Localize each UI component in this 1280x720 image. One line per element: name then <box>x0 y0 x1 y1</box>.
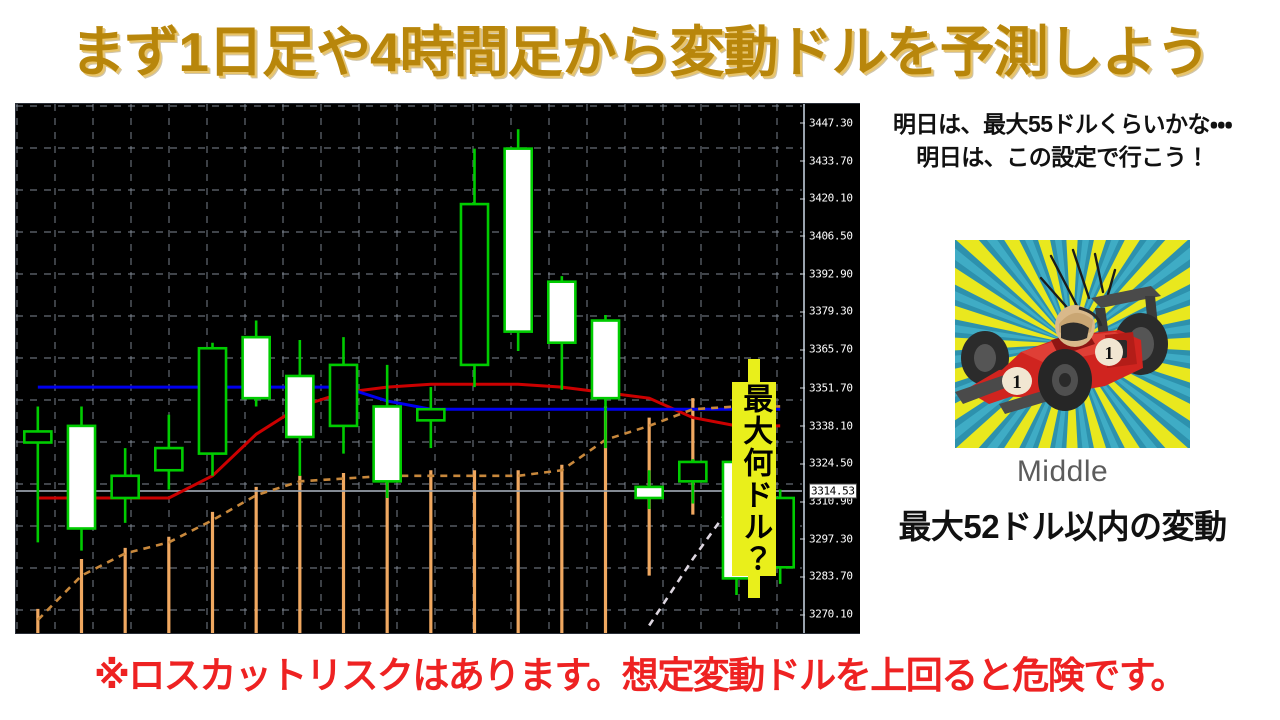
price-tick: 3420.10 <box>809 192 853 205</box>
price-tick: 3338.10 <box>809 419 853 432</box>
max-move-label: 最大52ドル以内の変動 <box>845 500 1280 548</box>
price-axis: 3447.303433.703420.103406.503392.903379.… <box>803 104 860 633</box>
price-tick: 3365.70 <box>809 343 853 356</box>
note-line-2: 明日は、この設定で行こう！ <box>845 141 1280 174</box>
callout-label: 最大何ドル？ <box>739 383 770 575</box>
price-tick: 3283.70 <box>809 570 853 583</box>
callout-body: 最大何ドル？ <box>732 382 776 576</box>
footer-warning: ※ロスカットリスクはあります。想定変動ドルを上回ると危険です。 <box>0 645 1280 699</box>
price-tick: 3379.30 <box>809 305 853 318</box>
prediction-note: 明日は、最大55ドルくらいかな・・・ 明日は、この設定で行こう！ <box>845 108 1280 175</box>
price-tick: 3270.10 <box>809 608 853 621</box>
price-tick: 3351.70 <box>809 381 853 394</box>
svg-text:1: 1 <box>1105 343 1114 363</box>
chart-plot-area <box>16 104 802 633</box>
callout-wick-bottom <box>748 576 760 598</box>
price-tick: 3406.50 <box>809 229 853 242</box>
callout-wick-top <box>748 359 760 381</box>
svg-text:1: 1 <box>1012 372 1022 393</box>
price-tick: 3392.90 <box>809 267 853 280</box>
current-price-tick: 3314.53 <box>809 483 857 498</box>
callout-candle-marker: 最大何ドル？ <box>732 359 776 597</box>
middle-label: Middle <box>845 455 1280 489</box>
race-car-icon: 1 1 <box>955 240 1190 448</box>
price-chart[interactable]: 最大何ドル？ 3447.303433.703420.103406.503392.… <box>15 103 860 634</box>
note-line-1: 明日は、最大55ドルくらいかな・・・ <box>893 111 1232 137</box>
candlestick-svg <box>16 104 802 633</box>
page-title: まず1日足や4時間足から変動ドルを予測しよう <box>0 8 1280 86</box>
slide-root: まず1日足や4時間足から変動ドルを予測しよう 最大何ドル？ 3447.30343… <box>0 0 1280 720</box>
race-car-image: 1 1 <box>955 240 1190 448</box>
